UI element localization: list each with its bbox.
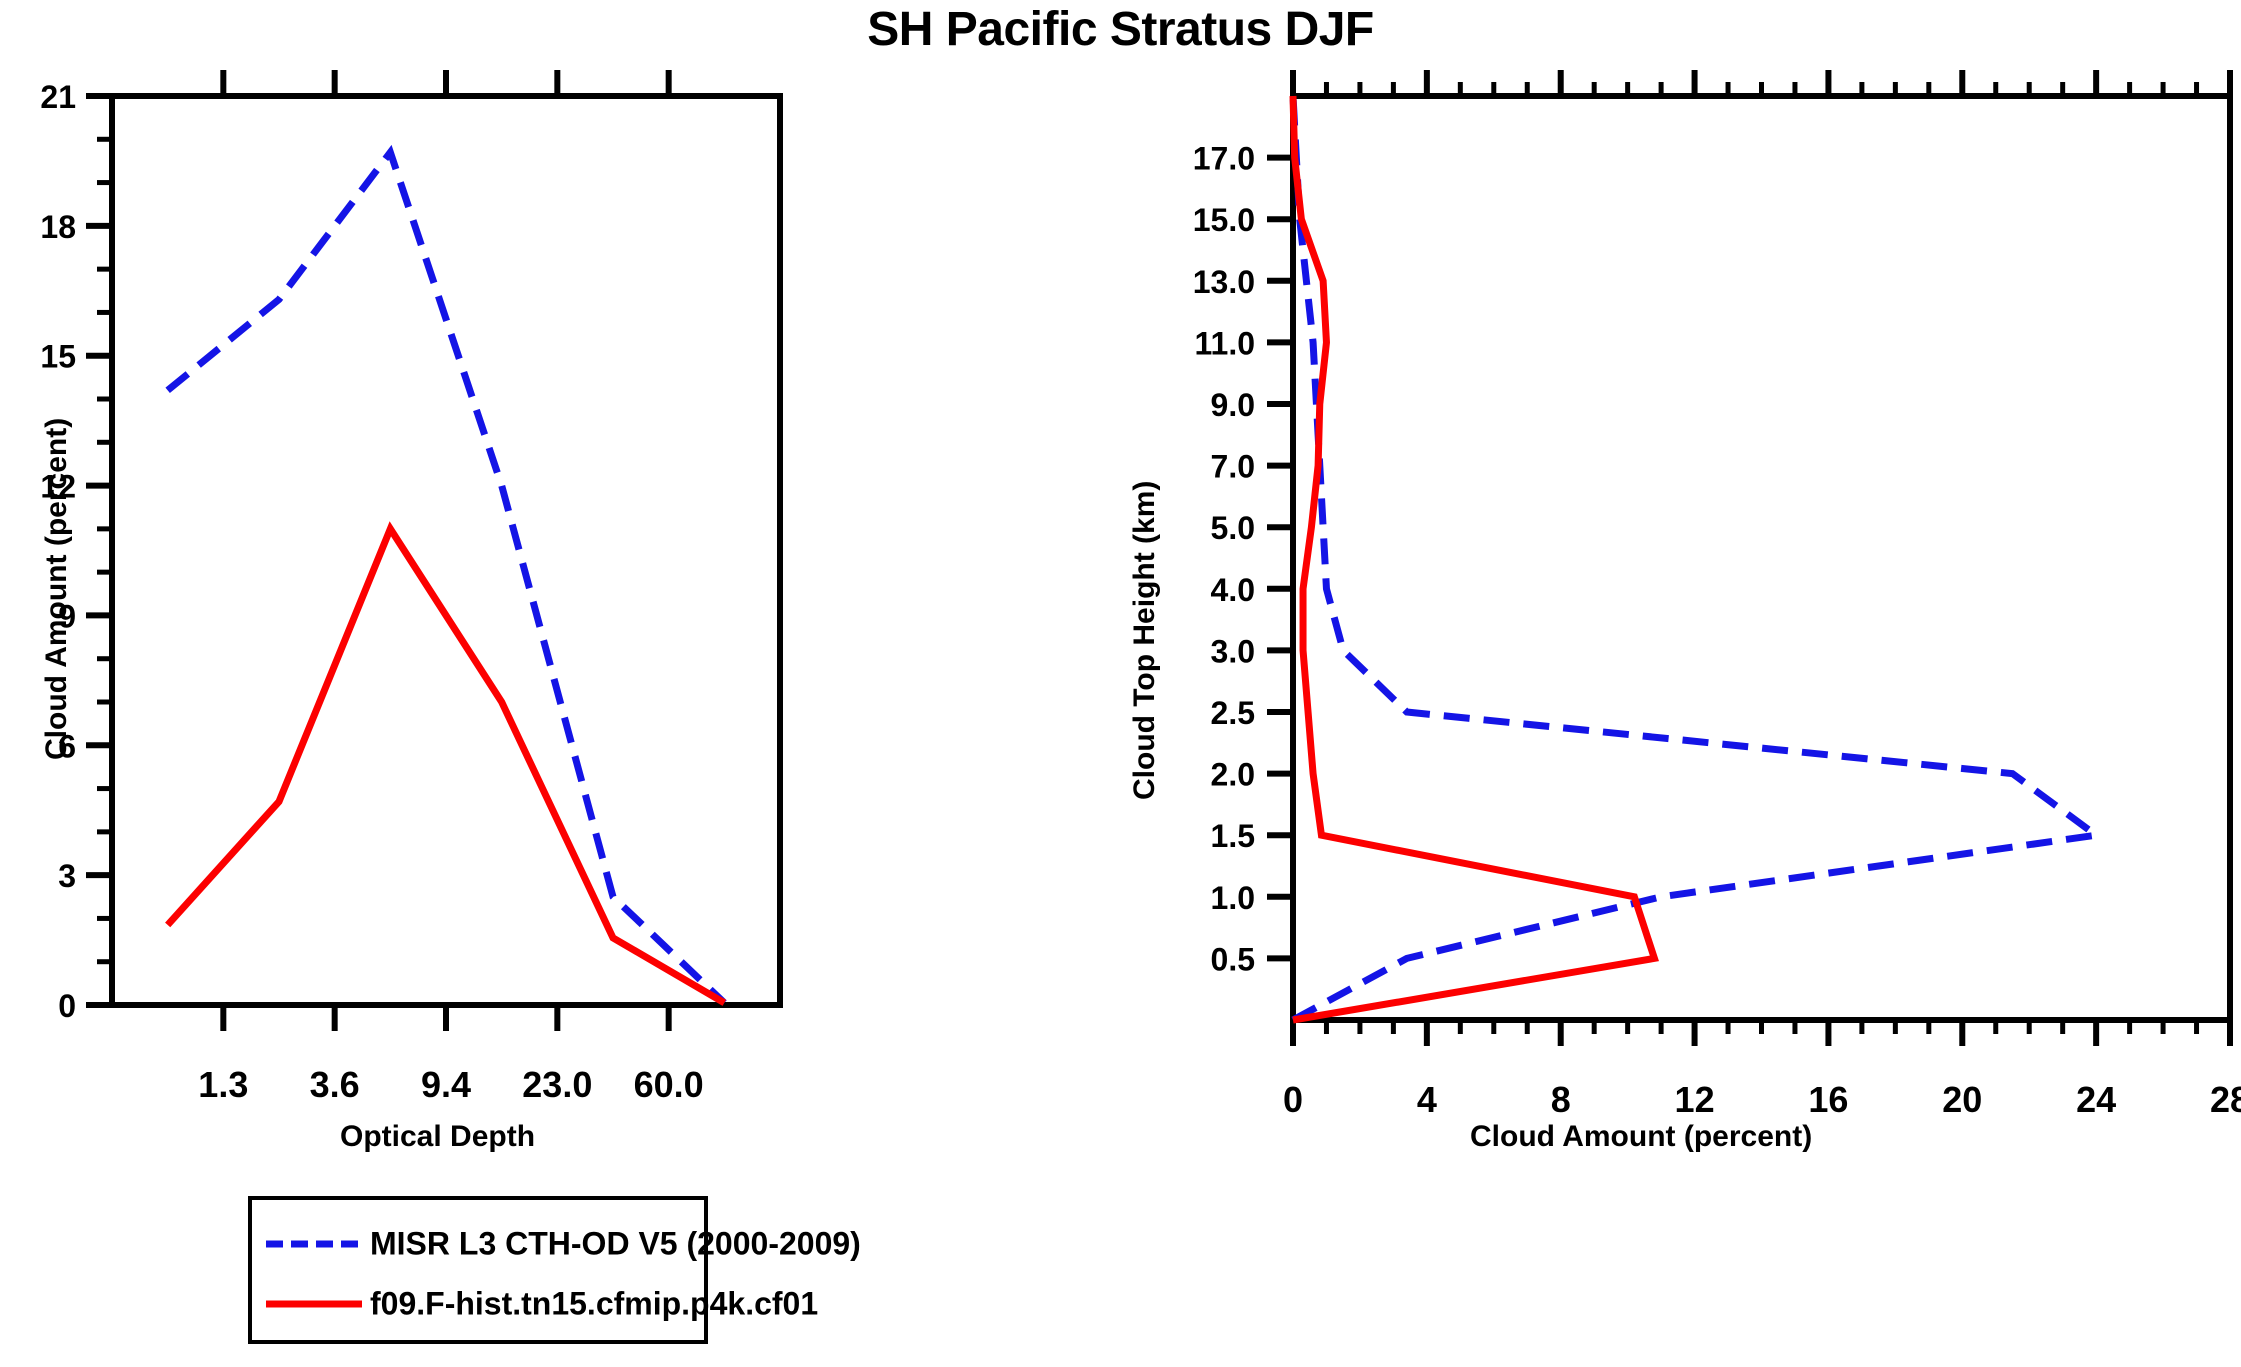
legend: MISR L3 CTH-OD V5 (2000-2009) f09.F-hist… <box>248 1196 708 1344</box>
left-x-tick-label: 23.0 <box>522 1064 592 1105</box>
right-x-tick-label: 8 <box>1551 1079 1571 1120</box>
right-y-tick-label: 9.0 <box>1211 387 1255 423</box>
right-chart-svg: 0.51.01.52.02.53.04.05.07.09.011.013.015… <box>1100 0 2241 1180</box>
right-x-tick-label: 20 <box>1942 1079 1982 1120</box>
right-y-tick-label: 13.0 <box>1193 264 1255 300</box>
left-x-tick-label: 60.0 <box>634 1064 704 1105</box>
left-series-model <box>168 529 725 1003</box>
left-x-axis-label: Optical Depth <box>340 1120 535 1154</box>
legend-label-model: f09.F-hist.tn15.cfmip.p4k.cf01 <box>370 1286 818 1323</box>
right-x-tick-label: 12 <box>1675 1079 1715 1120</box>
right-y-tick-label: 2.0 <box>1211 757 1255 793</box>
legend-swatch-dashed <box>266 1241 362 1248</box>
right-y-tick-label: 17.0 <box>1193 141 1255 177</box>
right-y-tick-label: 2.5 <box>1211 695 1255 731</box>
left-y-tick-label: 3 <box>58 858 76 894</box>
legend-swatch-solid <box>266 1301 362 1308</box>
left-y-tick-label: 15 <box>40 339 76 375</box>
right-y-tick-label: 3.0 <box>1211 633 1255 669</box>
right-x-tick-label: 24 <box>2076 1079 2116 1120</box>
right-y-axis-label: Cloud Top Height (km) <box>1128 481 1162 800</box>
right-x-tick-label: 0 <box>1283 1079 1303 1120</box>
right-y-tick-label: 7.0 <box>1211 449 1255 485</box>
right-y-tick-label: 0.5 <box>1211 941 1255 977</box>
right-series-model <box>1293 96 1654 1020</box>
left-y-tick-label: 21 <box>40 79 76 115</box>
right-chart-panel: 0.51.01.52.02.53.04.05.07.09.011.013.015… <box>1100 0 2241 1180</box>
legend-item-model: f09.F-hist.tn15.cfmip.p4k.cf01 <box>252 1276 712 1332</box>
left-x-tick-label: 9.4 <box>421 1064 471 1105</box>
legend-item-misr: MISR L3 CTH-OD V5 (2000-2009) <box>252 1216 712 1272</box>
right-x-tick-label: 28 <box>2210 1079 2241 1120</box>
right-y-tick-label: 4.0 <box>1211 572 1255 608</box>
right-y-tick-label: 5.0 <box>1211 510 1255 546</box>
left-x-tick-label: 3.6 <box>310 1064 360 1105</box>
left-series-misr <box>168 152 725 1003</box>
right-x-axis-label: Cloud Amount (percent) <box>1470 1120 1812 1154</box>
right-series-misr <box>1293 96 2096 1020</box>
left-y-tick-label: 18 <box>40 209 76 245</box>
left-chart-panel: 0369121518211.33.69.423.060.0 Cloud Amou… <box>0 0 1120 1180</box>
right-x-tick-label: 16 <box>1808 1079 1848 1120</box>
chart-page: SH Pacific Stratus DJF 0369121518211.33.… <box>0 0 2241 1367</box>
left-x-tick-label: 1.3 <box>198 1064 248 1105</box>
right-y-tick-label: 15.0 <box>1193 202 1255 238</box>
left-y-axis-label: Cloud Amount (percent) <box>40 418 74 760</box>
right-y-tick-label: 11.0 <box>1194 325 1255 361</box>
left-plot-frame <box>112 96 780 1005</box>
left-y-tick-label: 0 <box>58 988 76 1024</box>
legend-label-misr: MISR L3 CTH-OD V5 (2000-2009) <box>370 1226 861 1263</box>
right-y-tick-label: 1.5 <box>1211 818 1255 854</box>
left-chart-svg: 0369121518211.33.69.423.060.0 <box>0 0 1120 1180</box>
right-y-tick-label: 1.0 <box>1211 880 1255 916</box>
right-x-tick-label: 4 <box>1417 1079 1437 1120</box>
